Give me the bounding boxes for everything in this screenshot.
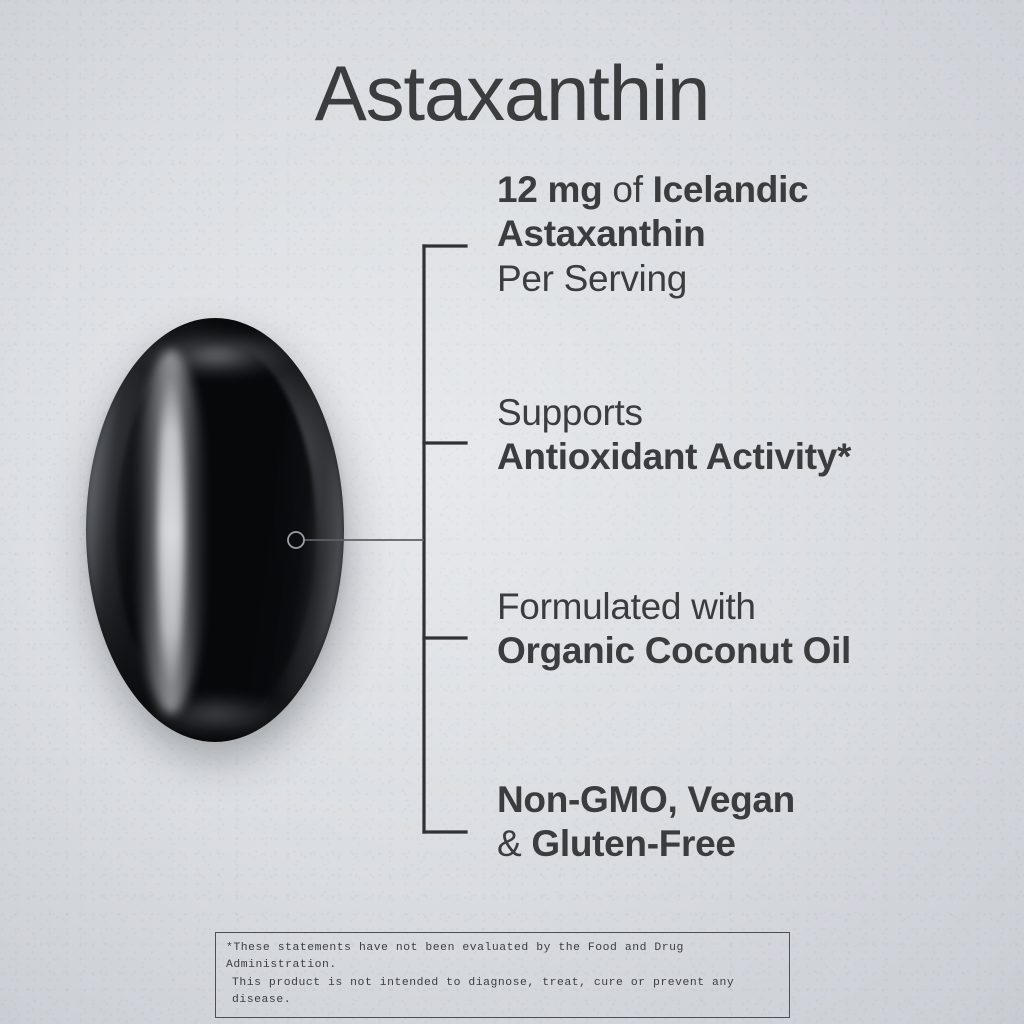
disclaimer-line-1: *These statements have not been evaluate… <box>226 940 779 975</box>
feature-text-run: of <box>612 169 652 210</box>
product-infographic: Astaxanthin 12 mg of IcelandicAstaxanthi… <box>0 0 1024 1024</box>
feature-text-run: 12 mg <box>497 169 612 210</box>
feature-text-run: Antioxidant Activity* <box>497 436 851 477</box>
feature-line: Per Serving <box>497 257 997 301</box>
feature-text-run: Astaxanthin <box>497 213 705 254</box>
feature-text-run: Per Serving <box>497 258 687 299</box>
feature-coconut-oil: Formulated withOrganic Coconut Oil <box>497 585 997 674</box>
softgel-capsule-image <box>86 318 354 750</box>
feature-dosage: 12 mg of IcelandicAstaxanthinPer Serving <box>497 168 997 301</box>
feature-certifications: Non-GMO, Vegan& Gluten-Free <box>497 778 997 867</box>
feature-line: Non-GMO, Vegan <box>497 778 997 822</box>
fda-disclaimer-box: *These statements have not been evaluate… <box>215 932 790 1018</box>
feature-text-run: Gluten-Free <box>531 823 735 864</box>
capsule-bottom-rim-light <box>138 696 294 742</box>
feature-antioxidant: SupportsAntioxidant Activity* <box>497 391 997 480</box>
feature-line: 12 mg of Icelandic <box>497 168 997 212</box>
feature-text-run: & <box>497 823 531 864</box>
feature-line: Antioxidant Activity* <box>497 435 997 479</box>
feature-line: Organic Coconut Oil <box>497 629 997 673</box>
feature-text-run: Non-GMO, Vegan <box>497 779 795 820</box>
feature-text-run: Organic Coconut Oil <box>497 630 851 671</box>
feature-text-run: Formulated with <box>497 586 756 627</box>
capsule-specular-streak <box>158 376 184 688</box>
feature-text-run: Supports <box>497 392 643 433</box>
feature-line: Supports <box>497 391 997 435</box>
capsule-top-rim-light <box>132 324 300 376</box>
product-title: Astaxanthin <box>0 54 1024 132</box>
feature-line: & Gluten-Free <box>497 822 997 866</box>
disclaimer-line-2: This product is not intended to diagnose… <box>226 975 779 1010</box>
feature-line: Formulated with <box>497 585 997 629</box>
feature-line: Astaxanthin <box>497 212 997 256</box>
feature-text-run: Icelandic <box>653 169 809 210</box>
